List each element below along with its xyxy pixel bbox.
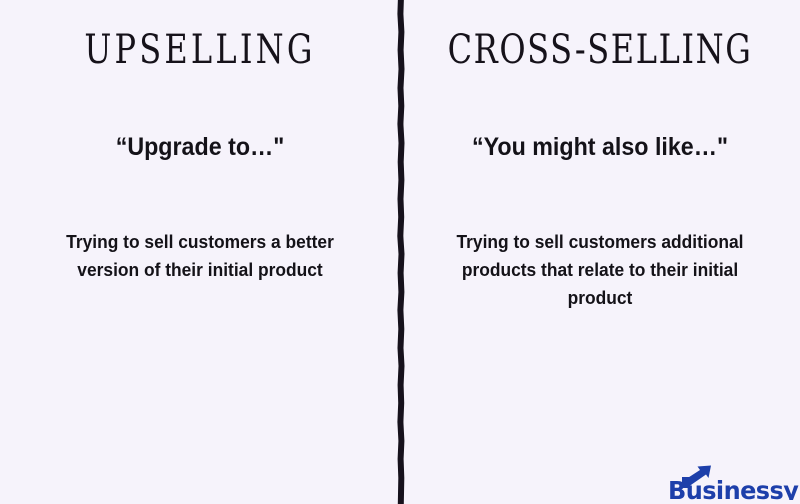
panel-quote-upselling: “Upgrade to…" (14, 133, 386, 162)
watermark-brand-text: Businessyield (668, 476, 800, 500)
panel-body-upselling: Trying to sell customers a better versio… (51, 228, 348, 284)
panel-title-upselling: UPSELLING (40, 27, 360, 73)
panel-cross-selling: CROSS-SELLING “You might also like…" Try… (400, 0, 800, 500)
watermark-logo: Businessyield (668, 464, 800, 500)
comparison-board: UPSELLING “Upgrade to…" Trying to sell c… (0, 0, 800, 500)
panel-title-cross-selling: CROSS-SELLING (440, 27, 760, 73)
panel-quote-cross-selling: “You might also like…" (414, 133, 786, 162)
panel-upselling: UPSELLING “Upgrade to…" Trying to sell c… (0, 0, 400, 500)
panel-body-cross-selling: Trying to sell customers additional prod… (438, 228, 761, 312)
